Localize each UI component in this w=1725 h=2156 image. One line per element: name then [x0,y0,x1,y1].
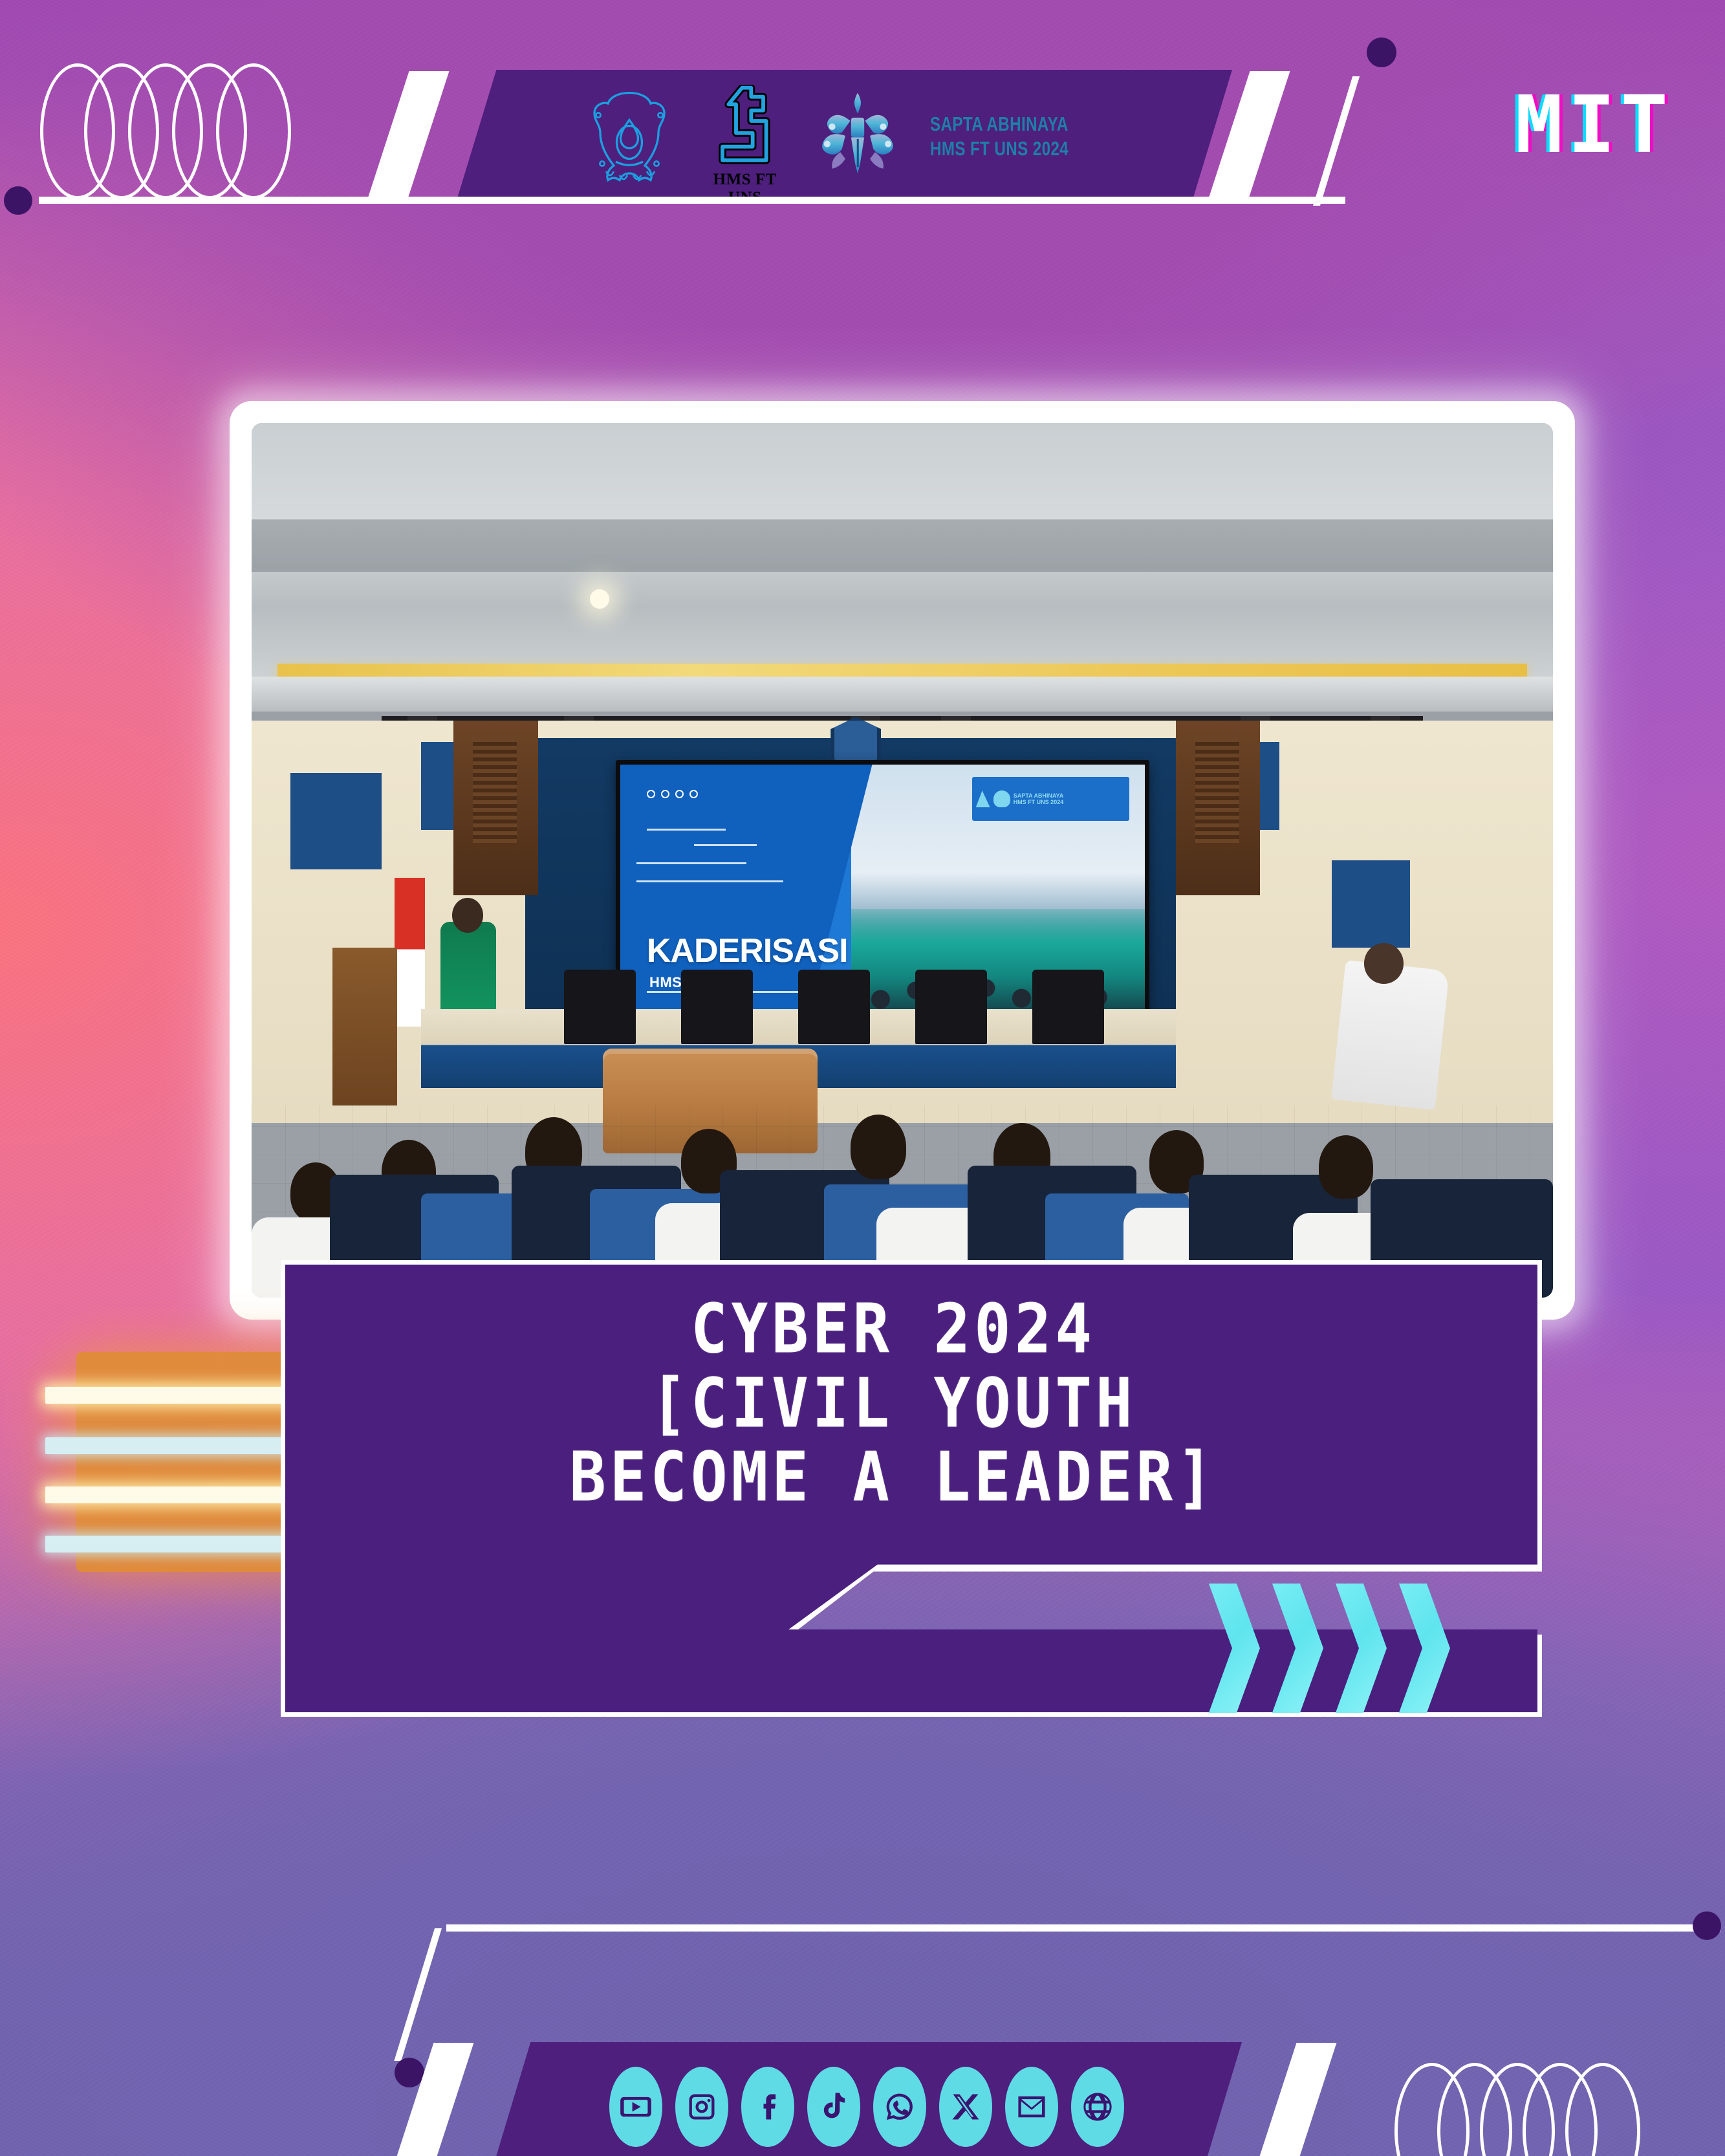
facebook-icon[interactable] [741,2067,794,2147]
photo-wall-panel [290,773,382,869]
mit-wordmark: MIT [1515,85,1673,164]
slide-dot [647,790,655,798]
website-icon[interactable] [1071,2067,1124,2147]
logo-text-line1: SAPTA ABHINAYA [930,112,1069,136]
slide-line [694,844,757,846]
header-slash-left [367,71,450,201]
poster-canvas: HMS FT UNS [0,0,1725,2156]
slide-dot [675,790,684,798]
photo-slide-badge: SAPTA ABHINAYA HMS FT UNS 2024 [972,777,1129,821]
instagram-icon[interactable] [675,2067,728,2147]
whatsapp-icon[interactable] [873,2067,926,2147]
slide-dot [661,790,669,798]
photo-stage-chair [681,970,753,1044]
social-links-plate [492,2042,1242,2156]
chevron-right-icon [1394,1584,1450,1713]
slide-badge-peacock-icon [993,790,1010,807]
photo-speaker-head [452,898,483,933]
photo-ceiling-beam [252,519,1553,572]
photo-indonesian-flag [395,878,424,1027]
chevron-arrow-group [1204,1584,1450,1713]
photo-stage-chair [798,970,870,1044]
logo-text-line2: HMS FT UNS 2024 [930,136,1069,161]
sapta-abhinaya-logo-text: SAPTA ABHINAYA HMS FT UNS 2024 [930,112,1069,161]
slide-badge-line2: HMS FT UNS 2024 [1014,799,1064,805]
title-line-2: [CIVIL YOUTH [281,1363,1506,1446]
slide-line [647,829,726,831]
event-photo: KADERISASI HMS FT UNS SAPTA ABHINAYA HMS… [252,423,1553,1298]
header-logo-plate: HMS FT UNS [456,70,1232,202]
photo-wood-ornament [1195,738,1239,843]
photo-wall-band [252,677,1553,712]
header-dot-right [1367,38,1396,67]
audience-head [851,1115,906,1179]
photo-stage-chair [1032,970,1104,1044]
chevron-right-icon [1331,1584,1387,1713]
uns-seal-logo [581,88,678,185]
footer-rule [446,1924,1720,1932]
photo-spotlight [590,589,609,609]
photo-wood-ornament [473,738,517,843]
slide-badge-line1: SAPTA ABHINAYA [1014,792,1064,799]
hms-ft-uns-logo: HMS FT UNS [705,85,785,188]
photo-slide-title: KADERISASI [647,931,848,970]
slide-line [636,862,746,864]
slide-badge-text: SAPTA ABHINAYA HMS FT UNS 2024 [1014,792,1064,806]
photo-stage-chair [564,970,636,1044]
slide-dot [689,790,698,798]
email-icon[interactable] [1005,2067,1058,2147]
header-rule-diagonal [1313,76,1360,206]
footer-slash-right [1255,2043,1337,2156]
title-line-3: BECOME A LEADER] [281,1437,1506,1519]
tiktok-icon[interactable] [807,2067,860,2147]
header-decoration: HMS FT UNS [0,0,1725,233]
slide-badge-hms-icon [976,790,990,807]
audience-head [1319,1135,1373,1199]
header-rule [39,197,1345,204]
footer-ellipse-cluster [1394,2063,1608,2156]
chevron-right-icon [1268,1584,1323,1713]
header-dot-left [4,186,32,215]
photo-stage-chair [915,970,987,1044]
header-ellipse-cluster [40,63,260,199]
sapta-abhinaya-peacock-logo [812,88,903,185]
footer-rule-diagonal [394,1928,442,2061]
photo-wall-panel [1332,860,1410,948]
ellipse-5 [216,63,291,199]
youtube-icon[interactable] [609,2067,662,2147]
chevron-right-icon [1204,1584,1260,1713]
photo-slide-dots [647,790,698,798]
photo-cove-light [277,664,1527,677]
x-twitter-icon[interactable] [939,2067,992,2147]
footer-decoration [0,1878,1725,2156]
title-line-1: CYBER 2024 [281,1289,1506,1371]
photo-standing-man-head [1364,943,1403,983]
title-text-block: CYBER 2024 [CIVIL YOUTH BECOME A LEADER] [281,1289,1506,1511]
photo-frame: KADERISASI HMS FT UNS SAPTA ABHINAYA HMS… [230,401,1575,1320]
slide-line [636,880,783,882]
footer-dot-right [1693,1911,1721,1940]
